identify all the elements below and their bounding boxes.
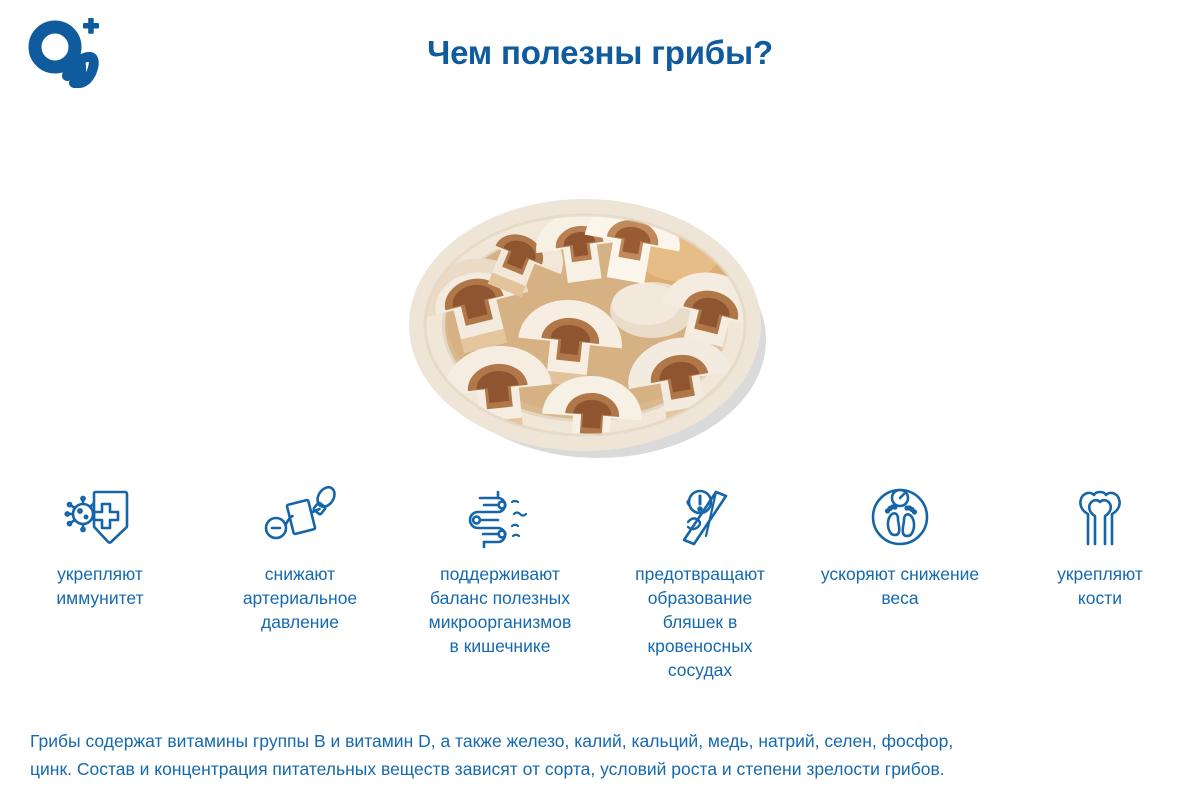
benefit-item-microbiome: поддерживают баланс полезных микрооргани… [400,484,600,658]
benefit-item-blood-pressure: снижают артериальное давление [200,484,400,634]
benefit-label: предотвращают образование бляшек в крове… [610,562,790,682]
hero-illustration [380,185,820,475]
benefit-item-bones: укрепляют кости [1000,484,1200,610]
bone-icon [1064,484,1136,550]
benefit-label: снижают артериальное давление [210,562,390,634]
footer-note: Грибы содержат витамины группы B и витам… [30,727,1172,783]
benefit-label: укрепляют кости [1010,562,1190,610]
benefit-item-weight-loss: ускоряют снижение веса [800,484,1000,610]
shield-virus-icon [64,484,136,550]
weight-scale-feet-icon [864,484,936,550]
benefit-item-plaque: предотвращают образование бляшек в крове… [600,484,800,682]
benefit-label: ускоряют снижение веса [810,562,990,610]
benefits-row: укрепляют иммунитет снижают артериальное… [0,484,1200,682]
bowl-of-mushrooms-icon [380,185,820,475]
benefit-label: поддерживают баланс полезных микрооргани… [410,562,590,658]
benefit-label: укрепляют иммунитет [10,562,190,610]
blood-vessel-plaque-warning-icon [664,484,736,550]
benefit-item-immunity: укрепляют иммунитет [0,484,200,610]
blood-pressure-monitor-icon [264,484,336,550]
intestines-microbiome-icon [464,484,536,550]
page-title: Чем полезны грибы? [0,34,1200,72]
